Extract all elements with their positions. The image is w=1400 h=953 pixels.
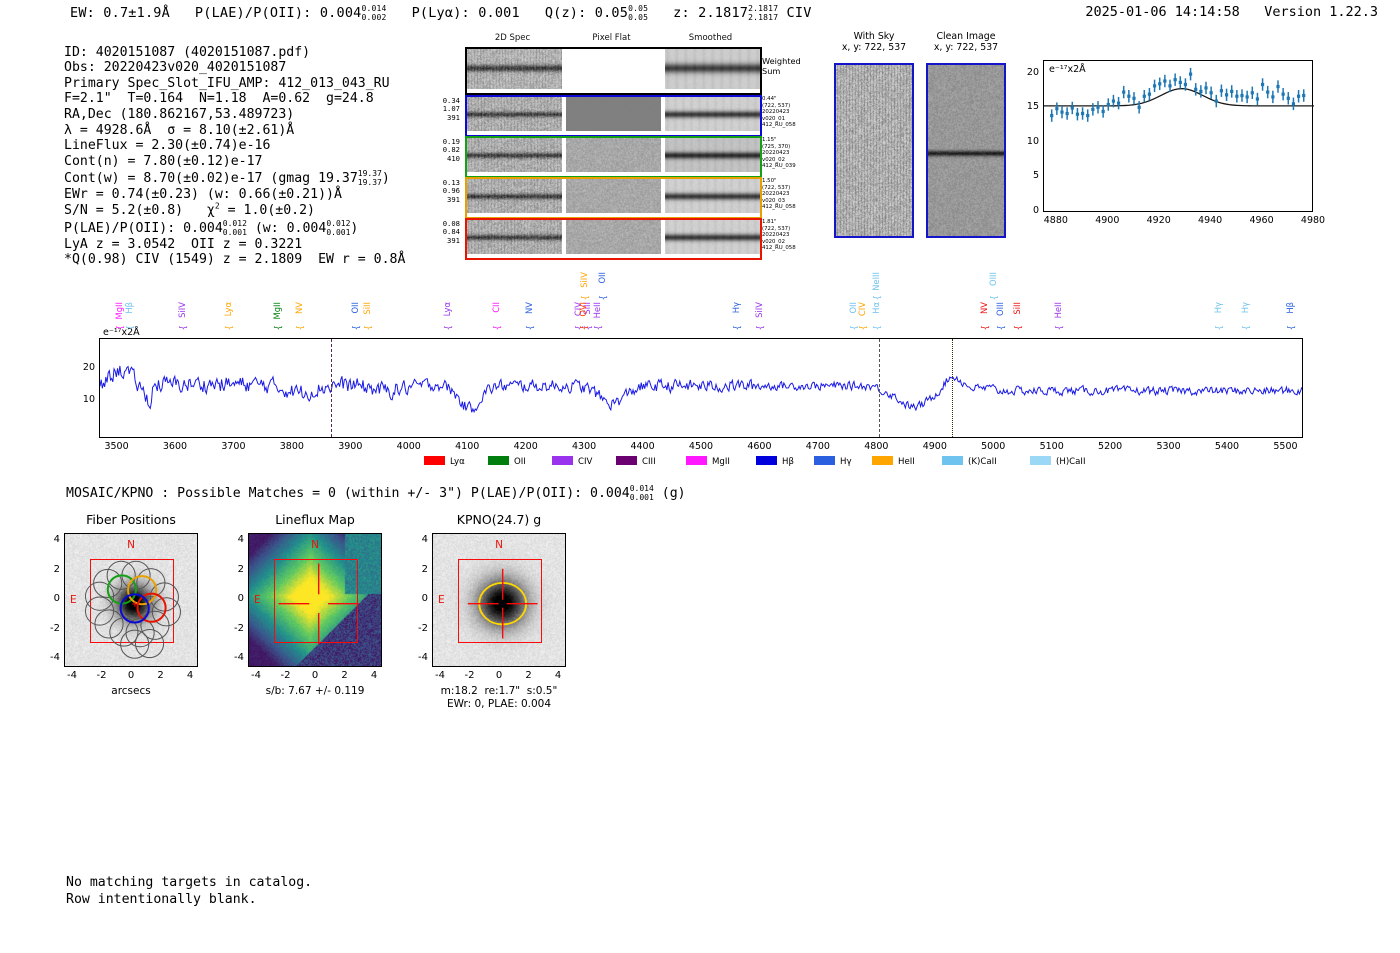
cutout-xtick-0: -2 — [97, 670, 107, 681]
cutout-xtick-0: 4 — [187, 670, 193, 681]
cutout-ytick-2: 0 — [410, 593, 428, 604]
spectrum-xtick: 3500 — [104, 441, 128, 452]
spectrum-xtick: 5500 — [1273, 441, 1297, 452]
header-qz-label: Q(z): — [545, 5, 587, 21]
legend-swatch-(H)CaII — [1030, 456, 1051, 465]
line-flag-HeII: HeII — [1054, 302, 1062, 318]
spec-col-header-1: Pixel Flat — [564, 33, 659, 43]
sky-panel-title-1: Clean Imagex, y: 722, 537 — [906, 31, 1026, 53]
cutout-ytick-0: 2 — [42, 564, 60, 575]
legend-item-HeII: HeII — [872, 456, 915, 467]
footer-line-2: Row intentionally blank. — [66, 892, 257, 907]
cutout-xtick-0: -4 — [67, 670, 77, 681]
legend-item-(K)CaII: (K)CaII — [942, 456, 997, 467]
line-flag-Hβ: Hβ — [125, 302, 133, 314]
zoom-ytick: 0 — [1017, 205, 1039, 216]
legend-item-CIII: CIII — [616, 456, 656, 467]
cutout-image-0: NE+ — [64, 533, 198, 667]
fiber-info-3: 1.81" (722, 537) 20220423 v020_02 412_RU… — [762, 219, 796, 252]
spectrum-xtick: 3600 — [163, 441, 187, 452]
zoom-plot-units-label: e⁻¹⁷x2Å — [1049, 64, 1086, 75]
cutout-ytick-1: 2 — [226, 564, 244, 575]
header-qz-hi: 0.05 — [628, 4, 648, 13]
line-flag-NeIII: NeIII — [872, 272, 880, 291]
info-cont-n: Cont(n) = 7.80(±0.12)e-17 — [64, 154, 263, 169]
sky-panel-image-0 — [834, 63, 914, 238]
header-z-line: CIV — [787, 5, 812, 21]
zoom-xtick: 4900 — [1095, 215, 1119, 226]
legend-item-Hγ: Hγ — [814, 456, 852, 467]
version: Version 1.22.3 — [1264, 4, 1378, 20]
zoom-ytick: 20 — [1017, 67, 1039, 78]
cutout-xtick-2: -2 — [465, 670, 475, 681]
spectrum-xtick: 3800 — [280, 441, 304, 452]
spectrum-xtick: 4500 — [689, 441, 713, 452]
svg-text:+: + — [132, 598, 139, 611]
cutout-xtick-2: -4 — [435, 670, 445, 681]
line-flag-bracket: { — [755, 325, 765, 330]
line-flag-bracket: { — [1054, 325, 1064, 330]
header-z-lo: 2.1817 — [748, 13, 778, 22]
info-lambda-sigma: λ = 4928.6Å σ = 8.10(±2.61)Å — [64, 123, 294, 138]
mosaic-text: MOSAIC/KPNO : Possible Matches = 0 (with… — [66, 486, 582, 501]
line-flag-bracket: { — [1286, 325, 1296, 330]
spectrum-xtick: 4900 — [923, 441, 947, 452]
line-flag-OII: OII — [598, 272, 606, 284]
header-plya-value: 0.001 — [478, 5, 520, 21]
cutout-ytick-2: -2 — [410, 623, 428, 634]
legend-item-MgII: MgII — [686, 456, 730, 467]
info-plae: P(LAE)/P(OII): 0.0040.0120.001 (w: 0.004… — [64, 221, 358, 236]
cutout-xtick-2: 2 — [525, 670, 531, 681]
line-flag-SiIV: SiIV — [755, 302, 763, 318]
cutout-overlay-1 — [249, 534, 382, 667]
fiber-row-2 — [465, 177, 762, 219]
fiber-row-1 — [465, 136, 762, 178]
zoom-ytick: 10 — [1017, 136, 1039, 147]
spectrum-xtick: 4400 — [630, 441, 654, 452]
line-flag-bracket: { — [598, 295, 608, 300]
line-flag-NV: NV — [980, 302, 988, 314]
line-flag-bracket: { — [351, 325, 361, 330]
spectrum-vline-2 — [952, 339, 953, 437]
info-sn-chi2: S/N = 5.2(±0.8) χ2 = 1.0(±0.2) — [64, 203, 315, 218]
spectrum-xtick: 4200 — [514, 441, 538, 452]
header-plae-lo: 0.002 — [361, 13, 386, 22]
legend-label-Hγ: Hγ — [840, 457, 852, 467]
spectrum-xtick: 4800 — [864, 441, 888, 452]
cutout-xtick-2: 4 — [555, 670, 561, 681]
cutout-xtick-1: -2 — [281, 670, 291, 681]
line-flag-bracket: { — [273, 325, 283, 330]
spectrum-xtick: 5200 — [1098, 441, 1122, 452]
fiber-info-2: 1.50" (722, 537) 20220423 v020_03 412_RU… — [762, 178, 796, 211]
weighted-sum-row — [465, 47, 762, 95]
line-flag-SiII: SiII — [363, 302, 371, 315]
line-flag-bracket: { — [872, 325, 882, 330]
line-flag-OII: OII — [351, 302, 359, 314]
cutout-ytick-2: -4 — [410, 652, 428, 663]
line-flag-SiIV: SiIV — [580, 272, 588, 288]
spectrum-trace — [100, 339, 1303, 438]
line-flag-bracket: { — [1214, 325, 1224, 330]
sky-panel-image-1 — [926, 63, 1006, 238]
legend-swatch-HeII — [872, 456, 893, 465]
spectrum-xtick: 4100 — [455, 441, 479, 452]
cutout-ytick-2: 2 — [410, 564, 428, 575]
cutout-ytick-0: -2 — [42, 623, 60, 634]
spectrum-xtick: 4000 — [397, 441, 421, 452]
line-flag-bracket: { — [580, 295, 590, 300]
legend-item-Lyα: Lyα — [424, 456, 465, 467]
zoom-xtick: 4980 — [1301, 215, 1325, 226]
cutout-ytick-1: -4 — [226, 652, 244, 663]
footer-note: No matching targets in catalog. Row inte… — [66, 874, 312, 908]
line-flag-bracket: { — [593, 325, 603, 330]
cutout-xtick-1: 2 — [341, 670, 347, 681]
legend-swatch-CIII — [616, 456, 637, 465]
cutout-xtick-0: 0 — [128, 670, 134, 681]
spec-col-header-2: Smoothed — [663, 33, 758, 43]
info-primary-amp: Primary Spec_Slot_IFU_AMP: 412_013_043_R… — [64, 76, 390, 91]
fiber-row-3 — [465, 218, 762, 260]
legend-swatch-Lyα — [424, 456, 445, 465]
line-flag-bracket: { — [443, 325, 453, 330]
line-flag-CIV: CIV — [858, 302, 866, 316]
footer-line-1: No matching targets in catalog. — [66, 875, 312, 890]
spectrum-xtick: 3700 — [221, 441, 245, 452]
line-flag-bracket: { — [363, 325, 373, 330]
line-flag-NV: NV — [525, 302, 533, 314]
legend-label-Hβ: Hβ — [782, 457, 794, 467]
line-flag-bracket: { — [989, 295, 999, 300]
legend-swatch-MgII — [686, 456, 707, 465]
info-q-line: *Q(0.98) CIV (1549) z = 2.1809 EW r = 0.… — [64, 252, 405, 267]
line-flag-bracket: { — [178, 325, 188, 330]
cutout-overlay-0: + — [65, 534, 198, 667]
spectrum-xtick: 4700 — [806, 441, 830, 452]
info-cont-w: Cont(w) = 8.70(±0.02)e-17 (gmag 19.3719.… — [64, 171, 390, 186]
header-timestamp-version: 2025-01-06 14:14:58 Version 1.22.3 — [1085, 4, 1378, 20]
sky-panel-coords-1: x, y: 722, 537 — [906, 42, 1026, 53]
mosaic-plae-value: 0.004 — [590, 486, 630, 501]
spectrum-vline-0 — [331, 339, 332, 437]
fiber-info-0: 0.44" (722, 537) 20220423 v020_01 412_RU… — [762, 96, 796, 129]
line-flag-SiIV: SiIV — [178, 302, 186, 318]
cutout-ytick-0: 4 — [42, 534, 60, 545]
legend-label-Lyα: Lyα — [450, 457, 465, 467]
spectrum-xtick: 4300 — [572, 441, 596, 452]
info-ewr: EWr = 0.74(±0.23) (w: 0.66(±0.21))Å — [64, 187, 342, 202]
line-flag-bracket: { — [224, 325, 234, 330]
line-flag-OVI: OVI — [579, 302, 587, 317]
header-ew: EW: 0.7±1.9Å — [70, 5, 170, 21]
cutout-ytick-1: -2 — [226, 623, 244, 634]
spectrum-xtick: 5400 — [1215, 441, 1239, 452]
legend-swatch-Hβ — [756, 456, 777, 465]
timestamp: 2025-01-06 14:14:58 — [1085, 4, 1239, 20]
legend-swatch-Hγ — [814, 456, 835, 465]
legend-item-OII: OII — [488, 456, 526, 467]
line-flag-HeII: HeII — [593, 302, 601, 318]
zoom-plot-axes: e⁻¹⁷x2Å — [1043, 60, 1313, 212]
spectrum-vline-1 — [879, 339, 880, 437]
spectrum-xtick: 3900 — [338, 441, 362, 452]
spectrum-axes — [99, 338, 1303, 438]
header-z-value: 2.1817 — [698, 5, 748, 21]
pixel-flat-blank — [566, 49, 661, 89]
zoom-ytick: 5 — [1017, 170, 1039, 181]
legend-item-(H)CaII: (H)CaII — [1030, 456, 1086, 467]
mosaic-match-line: MOSAIC/KPNO : Possible Matches = 0 (with… — [66, 484, 686, 502]
legend-label-HeII: HeII — [898, 457, 915, 467]
source-info-block: ID: 4020151087 (4020151087.pdf) Obs: 202… — [64, 29, 405, 268]
legend-label-CIII: CIII — [642, 457, 656, 467]
spectrum-ytick: 10 — [73, 394, 95, 405]
line-flag-SiII: SiII — [1013, 302, 1021, 315]
line-flag-NV: NV — [295, 302, 303, 314]
line-flag-Hα: Hα — [872, 302, 880, 314]
header-qz-value: 0.05 — [595, 5, 628, 21]
line-flag-Hγ: Hγ — [732, 302, 740, 313]
line-flag-bracket: { — [115, 325, 125, 330]
cutout-title-1: Lineflux Map — [213, 512, 417, 527]
cutout-caption-2: m:18.2 re:1.7" s:0.5" EWr: 0, PLAE: 0.00… — [387, 685, 611, 710]
line-flag-OIII: OIII — [989, 272, 997, 286]
legend-item-CIV: CIV — [552, 456, 592, 467]
legend-label-OII: OII — [514, 457, 526, 467]
cutout-overlay-2 — [433, 534, 566, 667]
line-flag-Hγ: Hγ — [1214, 302, 1222, 313]
zoom-xtick: 4920 — [1147, 215, 1171, 226]
info-z-solutions: LyA z = 3.0542 OII z = 0.3221 — [64, 237, 302, 252]
legend-label-CIV: CIV — [578, 457, 592, 467]
spectrum-xtick: 5100 — [1040, 441, 1064, 452]
line-flag-bracket: { — [732, 325, 742, 330]
info-lineflux: LineFlux = 2.30(±0.74)e-16 — [64, 138, 270, 153]
legend-swatch-OII — [488, 456, 509, 465]
fiber-weights-3: 0.08 0.84 391 — [420, 220, 460, 245]
line-flag-CII: CII — [492, 302, 500, 313]
line-flag-bracket: { — [579, 325, 589, 330]
cutout-title-0: Fiber Positions — [29, 512, 233, 527]
line-flag-MgII: MgII — [115, 302, 123, 319]
cutout-xtick-2: 0 — [496, 670, 502, 681]
weighted-sum-label: Weighted Sum — [762, 57, 801, 76]
header-plae-label: P(LAE)/P(OII): — [195, 5, 312, 21]
info-id: ID: 4020151087 (4020151087.pdf) — [64, 45, 310, 60]
spectrum-xtick: 4600 — [747, 441, 771, 452]
legend-label-(H)CaII: (H)CaII — [1056, 457, 1086, 467]
line-flag-OII: OII — [849, 302, 857, 314]
line-flag-Lyα: Lyα — [443, 302, 451, 316]
cutout-xtick-1: 0 — [312, 670, 318, 681]
fiber-info-1: 1.15" (725, 370) 20220423 v020_02 412_RU… — [762, 137, 796, 170]
legend-swatch-(K)CaII — [942, 456, 963, 465]
header-plae-hi: 0.014 — [361, 4, 386, 13]
line-flag-bracket: { — [125, 325, 135, 330]
twod-spectra-panel: 2D SpecPixel FlatSmoothedWeighted Sum0.3… — [420, 33, 820, 248]
line-flag-bracket: { — [996, 325, 1006, 330]
spectrum-ytick: 20 — [73, 362, 95, 373]
line-flag-bracket: { — [980, 325, 990, 330]
line-flag-bracket: { — [1241, 325, 1251, 330]
line-flag-bracket: { — [858, 325, 868, 330]
cutout-ytick-1: 0 — [226, 593, 244, 604]
spectrum-xtick: 5300 — [1156, 441, 1180, 452]
legend-label-MgII: MgII — [712, 457, 730, 467]
info-obs: Obs: 20220423v020_4020151087 — [64, 60, 286, 75]
cutout-ytick-0: -4 — [42, 652, 60, 663]
cutout-xtick-1: 4 — [371, 670, 377, 681]
spec-col-header-0: 2D Spec — [465, 33, 560, 43]
fiber-weights-2: 0.13 0.96 391 — [420, 179, 460, 204]
info-seeing: F=2.1" T=0.164 N=1.18 A=0.62 g=24.8 — [64, 91, 374, 106]
line-flag-bracket: { — [295, 325, 305, 330]
cutout-xtick-0: 2 — [157, 670, 163, 681]
cutout-xtick-1: -4 — [251, 670, 261, 681]
fiber-weights-1: 0.19 0.82 410 — [420, 138, 460, 163]
header-plya-label: P(Lyα): — [412, 5, 470, 21]
legend-swatch-CIV — [552, 456, 573, 465]
line-flag-bracket: { — [525, 325, 535, 330]
info-radec: RA,Dec (180.862167,53.489723) — [64, 107, 294, 122]
cutout-image-1: NE — [248, 533, 382, 667]
cutout-image-2: NE — [432, 533, 566, 667]
header-qz-lo: 0.05 — [628, 13, 648, 22]
header-plae-value: 0.004 — [320, 5, 362, 21]
header-z-hi: 2.1817 — [748, 4, 778, 13]
spectrum-xtick: 5000 — [981, 441, 1005, 452]
zoom-ytick: 15 — [1017, 101, 1039, 112]
legend-item-Hβ: Hβ — [756, 456, 794, 467]
line-flag-Hβ: Hβ — [1286, 302, 1294, 314]
header-z-label: z: — [673, 5, 690, 21]
header-summary-line: EW: 0.7±1.9Å P(LAE)/P(OII): 0.0040.0140.… — [70, 4, 812, 22]
cutout-ytick-2: 4 — [410, 534, 428, 545]
sky-panel-name-1: Clean Image — [906, 31, 1026, 42]
zoom-plot-data — [1044, 61, 1314, 213]
fiber-weights-0: 0.34 1.07 391 — [420, 97, 460, 122]
line-flag-Hγ: Hγ — [1241, 302, 1249, 313]
line-flag-bracket: { — [492, 325, 502, 330]
cutout-ytick-1: 4 — [226, 534, 244, 545]
line-flag-bracket: { — [1013, 325, 1023, 330]
cutout-ytick-0: 0 — [42, 593, 60, 604]
fiber-row-0 — [465, 95, 762, 137]
mosaic-filter: (g) — [662, 486, 686, 501]
zoom-xtick: 4880 — [1044, 215, 1068, 226]
line-flag-MgII: MgII — [273, 302, 281, 319]
legend-label-(K)CaII: (K)CaII — [968, 457, 997, 467]
zoom-xtick: 4960 — [1249, 215, 1273, 226]
cutout-title-2: KPNO(24.7) g — [397, 512, 601, 527]
line-flag-bracket: { — [872, 295, 882, 300]
zoom-xtick: 4940 — [1198, 215, 1222, 226]
line-flag-OIII: OIII — [996, 302, 1004, 316]
line-flag-Lyα: Lyα — [224, 302, 232, 316]
